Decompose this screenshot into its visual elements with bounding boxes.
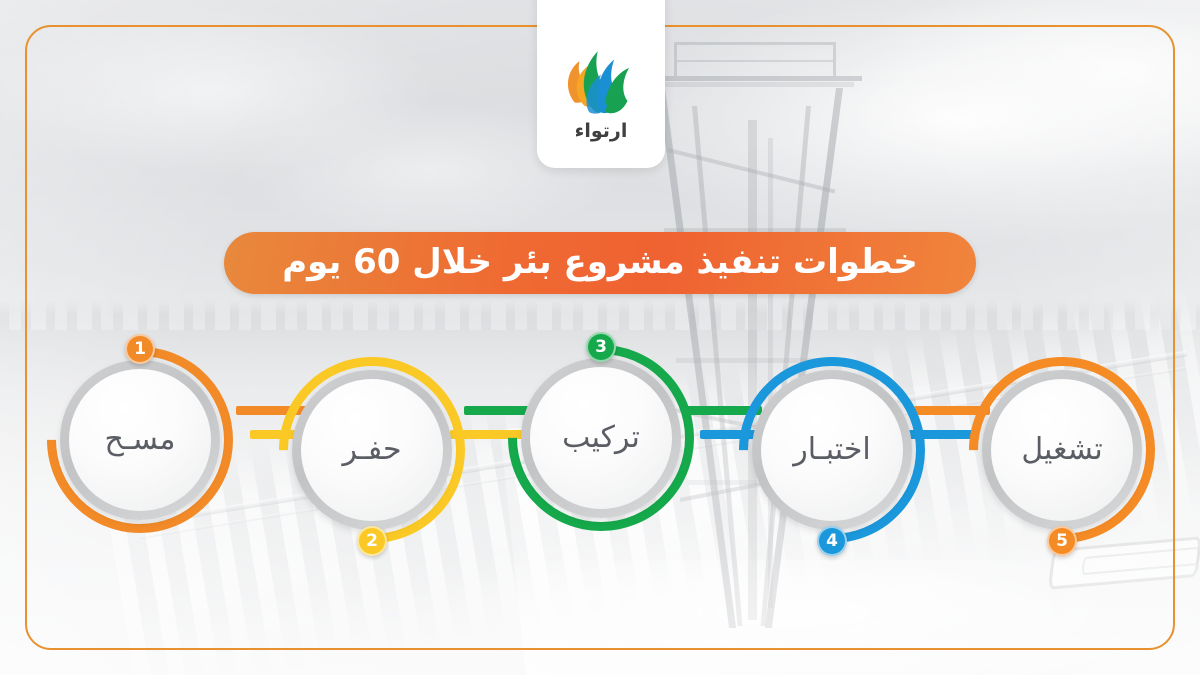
brand-wordmark: ارتواء [575, 120, 628, 142]
step-2-label: حفـر [342, 432, 401, 469]
step-4-disc: اختبـار [761, 379, 903, 521]
step-2-number: 2 [366, 531, 378, 551]
process-steps: مسـح 1 حفـر 2 تركيب [0, 330, 1200, 530]
infographic-canvas: ارتواء خطوات تنفيذ مشروع بئر خلال 60 يوم… [0, 0, 1200, 675]
step-1-number-badge: 1 [125, 334, 155, 364]
step-2-ring: حفـر [292, 370, 452, 530]
step-5-ring: تشغيل [982, 370, 1142, 530]
step-5[interactable]: تشغيل 5 [982, 370, 1142, 530]
connector-4-to-5-orange [914, 406, 990, 415]
step-1-ring: مسـح [60, 360, 220, 520]
step-4-number: 4 [826, 531, 838, 551]
connector-2-to-3-yellow [450, 430, 526, 439]
connector-3-to-4-green [686, 406, 762, 415]
step-3[interactable]: تركيب 3 [521, 358, 681, 518]
title-banner: خطوات تنفيذ مشروع بئر خلال 60 يوم [224, 232, 976, 294]
step-3-ring: تركيب [521, 358, 681, 518]
step-5-label: تشغيل [1021, 432, 1102, 469]
step-2-number-badge: 2 [357, 526, 387, 556]
step-1-disc: مسـح [69, 369, 211, 511]
brand-logo-card: ارتواء [537, 0, 665, 168]
step-3-number: 3 [595, 337, 607, 357]
step-4[interactable]: اختبـار 4 [752, 370, 912, 530]
step-5-disc: تشغيل [991, 379, 1133, 521]
step-3-number-badge: 3 [586, 332, 616, 362]
page-title: خطوات تنفيذ مشروع بئر خلال 60 يوم [282, 245, 918, 282]
step-2-disc: حفـر [301, 379, 443, 521]
step-1[interactable]: مسـح 1 [60, 360, 220, 520]
step-2[interactable]: حفـر 2 [292, 370, 452, 530]
step-4-number-badge: 4 [817, 526, 847, 556]
step-5-number-badge: 5 [1047, 526, 1077, 556]
step-3-disc: تركيب [530, 367, 672, 509]
flame-leaf-logo-icon [559, 33, 643, 119]
step-5-number: 5 [1056, 531, 1068, 551]
step-4-label: اختبـار [793, 432, 870, 469]
step-1-number: 1 [134, 339, 146, 359]
step-4-ring: اختبـار [752, 370, 912, 530]
step-3-label: تركيب [562, 420, 640, 457]
step-1-label: مسـح [105, 422, 176, 459]
